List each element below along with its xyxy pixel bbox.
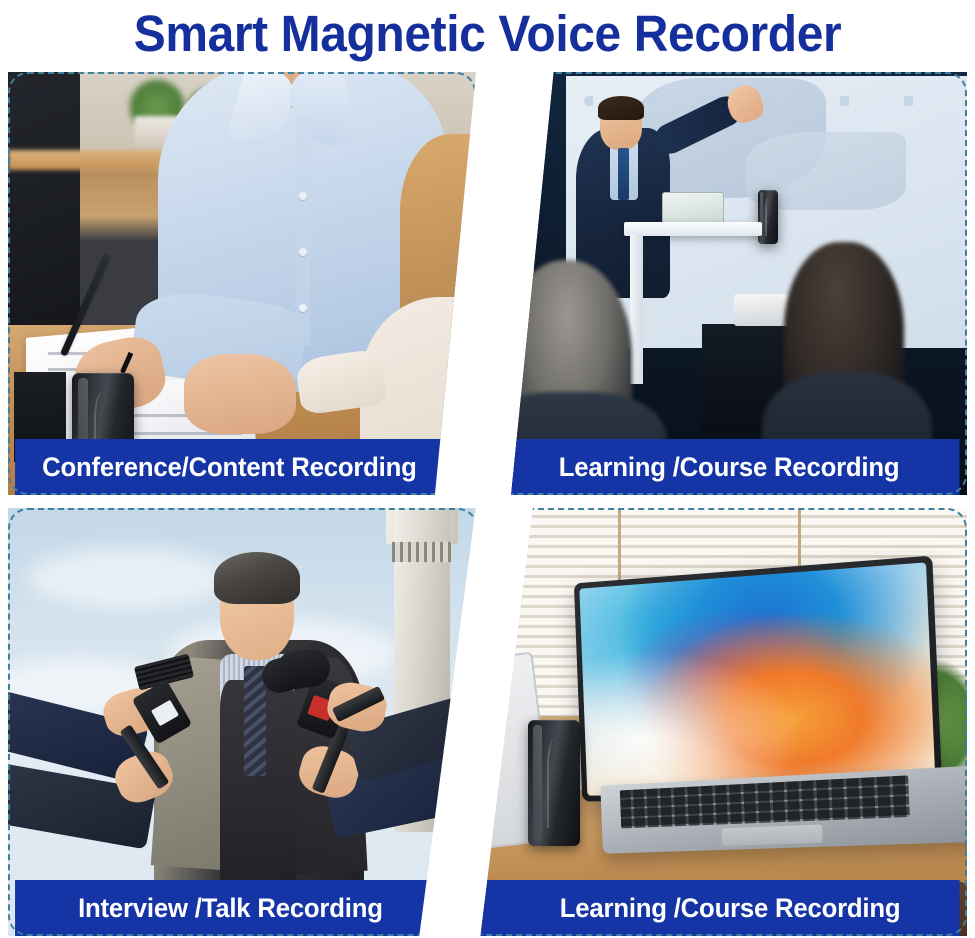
- voice-recorder-device: [528, 720, 580, 846]
- panel-caption-conference: Conference/Content Recording: [15, 439, 469, 495]
- panel-caption-interview: Interview /Talk Recording: [15, 880, 471, 936]
- scenario-grid: Conference/Content Recording: [0, 70, 975, 938]
- panel-caption-learning-bottom: Learning /Course Recording: [475, 880, 959, 936]
- photo-learning-course-recording-bottom: [468, 508, 967, 936]
- panel-caption-learning-top: Learning /Course Recording: [474, 439, 960, 495]
- page-title: Smart Magnetic Voice Recorder: [29, 0, 946, 70]
- photo-conference-recording: [8, 72, 476, 495]
- voice-recorder-device: [758, 190, 778, 244]
- product-feature-image: Smart Magnetic Voice Recorder: [0, 0, 975, 938]
- scenario-panel-interview: Interview /Talk Recording: [8, 508, 478, 936]
- scenario-panel-learning-top: Learning /Course Recording: [466, 72, 967, 495]
- photo-interview-talk-recording: [8, 508, 478, 936]
- photo-learning-course-recording-top: [466, 72, 967, 495]
- scenario-panel-conference: Conference/Content Recording: [8, 72, 476, 495]
- scenario-panel-learning-bottom: Learning /Course Recording: [468, 508, 967, 936]
